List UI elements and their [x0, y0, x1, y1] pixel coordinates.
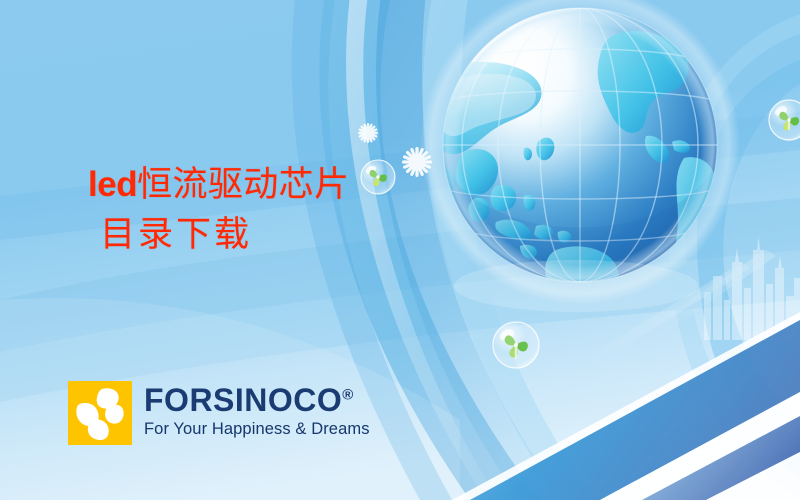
logo-tagline: For Your Happiness & Dreams: [144, 421, 370, 438]
logo-text-block: FORSINOCO® For Your Happiness & Dreams: [144, 381, 370, 438]
registered-trademark-icon: ®: [342, 386, 353, 403]
headline-latin-led: led: [88, 165, 137, 204]
sparkle-small: [358, 123, 378, 143]
pinwheel-petals: [68, 381, 132, 445]
earth-globe: [390, 0, 740, 317]
headline-line-2: 目录下载: [100, 211, 349, 261]
promo-headline: led恒流驱动芯片 目录下载: [88, 160, 349, 260]
diagonal-ribbons: [452, 312, 800, 500]
logo-wordmark: FORSINOCO®: [144, 384, 370, 416]
promo-banner: led恒流驱动芯片 目录下载 FORSINOCO® For Your Happi…: [0, 0, 800, 500]
bubble-pinwheel-lower-center: [493, 322, 539, 368]
city-skyline-silhouette: [576, 236, 800, 368]
brand-logo-lockup: FORSINOCO® For Your Happiness & Dreams: [68, 381, 370, 445]
logo-brand-name: FORSINOCO: [144, 382, 342, 418]
sparkle-large: [402, 147, 432, 177]
bubble-pinwheel-mid-left: [361, 160, 395, 194]
headline-cjk-1: 恒流驱动芯片: [137, 165, 349, 205]
four-petal-pinwheel-icon: [68, 381, 132, 445]
bubble-pinwheel-top-right: [769, 100, 800, 140]
headline-line-1: led恒流驱动芯片: [88, 160, 349, 211]
